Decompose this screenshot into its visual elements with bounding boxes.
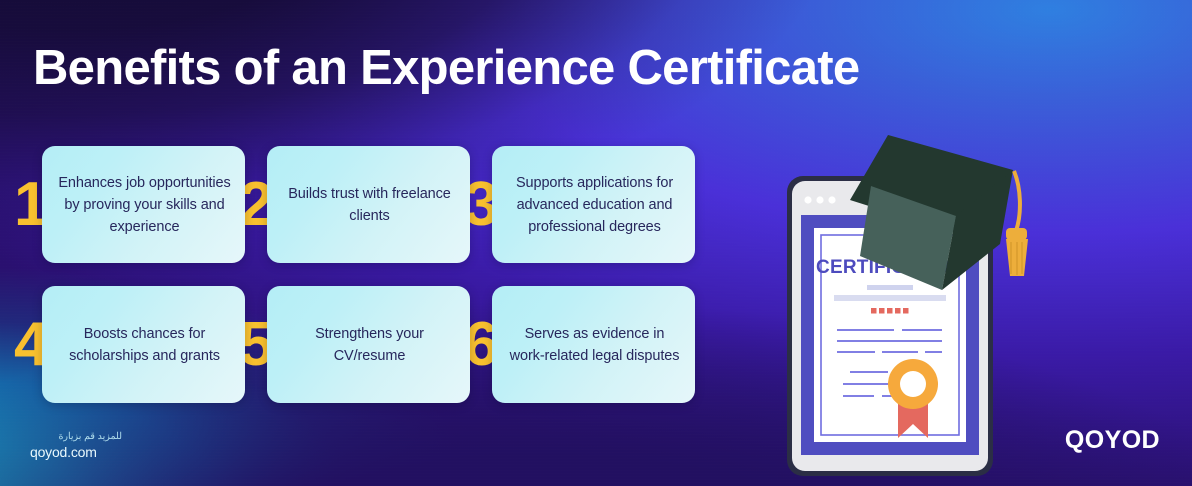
tassel-knot — [1006, 228, 1027, 240]
benefit-text-1: Enhances job opportunities by proving yo… — [56, 172, 233, 238]
benefit-text-5: Strengthens your CV/resume — [281, 323, 458, 367]
benefit-card-3: 3 Supports applications for advanced edu… — [492, 146, 695, 263]
benefit-card-box-6: Serves as evidence in work-related legal… — [492, 286, 695, 403]
benefit-card-box-5: Strengthens your CV/resume — [267, 286, 470, 403]
benefit-card-box-1: Enhances job opportunities by proving yo… — [42, 146, 245, 263]
benefit-card-box-2: Builds trust with freelance clients — [267, 146, 470, 263]
tassel-cord — [1014, 171, 1020, 231]
benefit-card-1: 1 Enhances job opportunities by proving … — [42, 146, 245, 263]
infographic-canvas: Benefits of an Experience Certificate 1 … — [0, 0, 1192, 486]
benefit-card-6: 6 Serves as evidence in work-related leg… — [492, 286, 695, 403]
benefit-card-box-4: Boosts chances for scholarships and gran… — [42, 286, 245, 403]
benefit-card-box-3: Supports applications for advanced educa… — [492, 146, 695, 263]
camera-dot-icon — [816, 196, 823, 203]
certificate-placeholder-line — [867, 285, 913, 290]
qoyod-logo[interactable]: QOYOD — [1065, 425, 1160, 455]
certificate-placeholder-line — [834, 295, 946, 301]
camera-dot-icon — [804, 196, 811, 203]
camera-dot-icon — [828, 196, 835, 203]
benefit-text-6: Serves as evidence in work-related legal… — [506, 323, 683, 367]
page-title: Benefits of an Experience Certificate — [33, 38, 1083, 98]
benefit-card-5: 5 Strengthens your CV/resume — [267, 286, 470, 403]
benefit-card-4: 4 Boosts chances for scholarships and gr… — [42, 286, 245, 403]
benefit-text-3: Supports applications for advanced educa… — [506, 172, 683, 238]
footer-website-url[interactable]: qoyod.com — [30, 443, 122, 461]
footer-arabic-text: للمزيد قم بزيارة — [30, 430, 122, 443]
certificate-illustration: CERTIFICATION — [770, 108, 1070, 483]
footer-visit-note: للمزيد قم بزيارة qoyod.com — [30, 430, 220, 461]
benefit-card-2: 2 Builds trust with freelance clients — [267, 146, 470, 263]
benefit-text-2: Builds trust with freelance clients — [281, 183, 458, 227]
benefit-text-4: Boosts chances for scholarships and gran… — [56, 323, 233, 367]
